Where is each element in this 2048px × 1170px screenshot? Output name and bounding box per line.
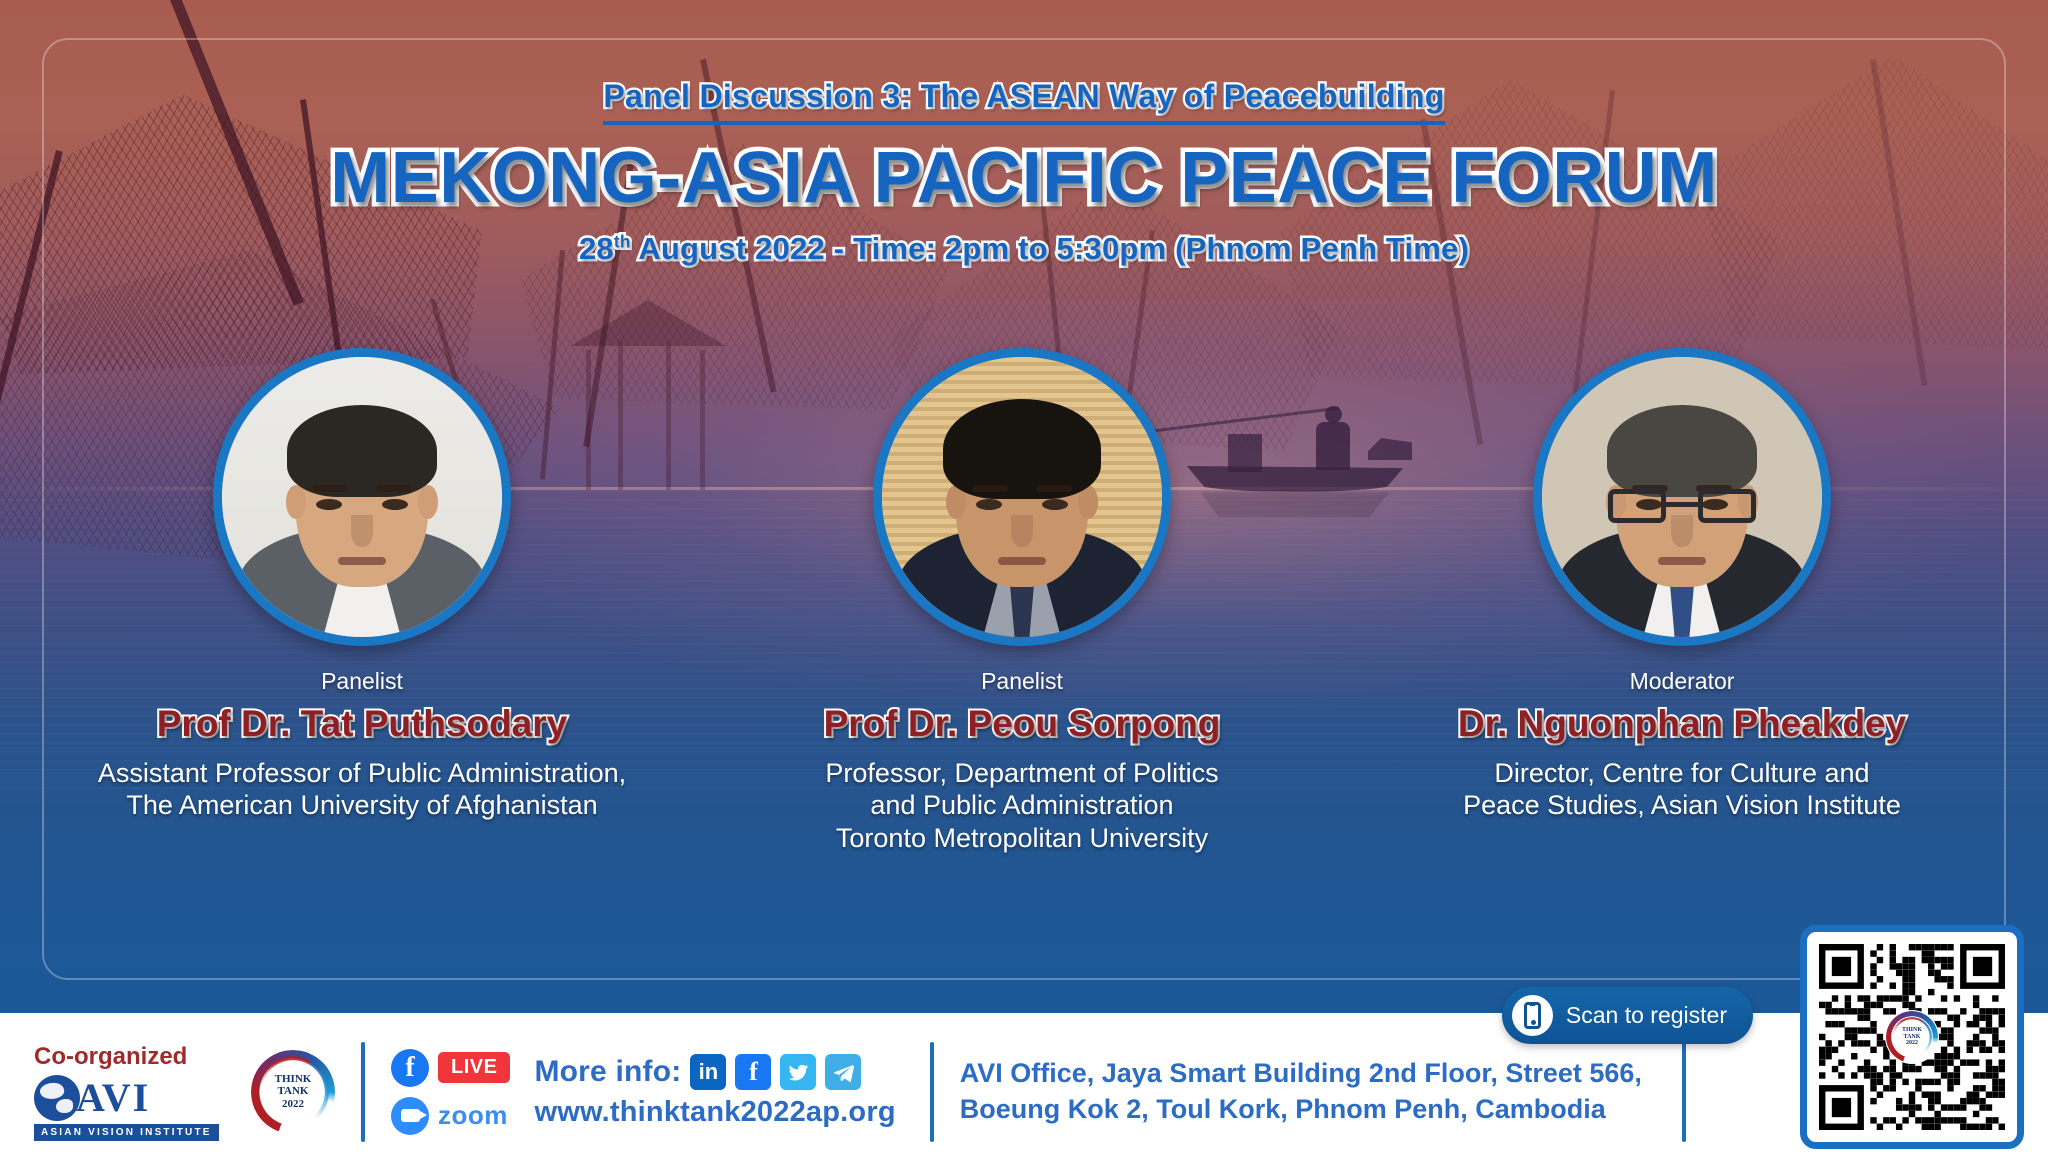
more-info-label: More info:	[534, 1055, 681, 1089]
avi-logo: AVI ASIAN VISION INSTITUTE	[34, 1075, 219, 1141]
facebook-icon[interactable]: f	[391, 1049, 429, 1087]
speaker-role: Panelist	[32, 668, 692, 695]
speaker-affiliation: Director, Centre for Culture andPeace St…	[1352, 757, 2012, 822]
think-tank-line2: TANK	[278, 1085, 309, 1097]
platform-column: f LIVE zoom	[391, 1049, 510, 1135]
address-line-2: Boeung Kok 2, Toul Kork, Phnom Penh, Cam…	[960, 1092, 1642, 1128]
globe-icon	[34, 1075, 80, 1121]
twitter-icon[interactable]	[780, 1054, 816, 1090]
avi-letters: AVI	[76, 1078, 150, 1118]
info-block: f LIVE zoom More info: in f	[391, 1049, 896, 1135]
co-organized-block: Co-organized AVI ASIAN VISION INSTITUTE	[0, 1043, 255, 1141]
qr-code[interactable]: THINK TANK 2022	[1800, 925, 2024, 1149]
more-info-column: More info: in f www.thinktank2022ap.org	[534, 1054, 895, 1129]
telegram-icon[interactable]	[825, 1054, 861, 1090]
linkedin-icon[interactable]: in	[690, 1054, 726, 1090]
speaker-affiliation: Professor, Department of Politicsand Pub…	[692, 757, 1352, 854]
qr-logo-line2: TANK	[1904, 1034, 1921, 1041]
panel-subtitle: Panel Discussion 3: The ASEAN Way of Pea…	[603, 78, 1444, 125]
speaker-role: Moderator	[1352, 668, 2012, 695]
avatar	[1533, 348, 1831, 646]
speaker-affiliation: Assistant Professor of Public Administra…	[32, 757, 692, 822]
speaker-card: Panelist Prof Dr. Tat Puthsodary Assista…	[32, 348, 692, 822]
website-url[interactable]: www.thinktank2022ap.org	[534, 1096, 895, 1129]
address-line-1: AVI Office, Jaya Smart Building 2nd Floo…	[960, 1056, 1642, 1092]
mobile-phone-icon	[1512, 995, 1553, 1036]
co-organized-label: Co-organized	[34, 1043, 255, 1071]
event-date-rest: August 2022 - Time: 2pm to 5:30pm (Phnom…	[631, 231, 1469, 266]
scan-to-register-button[interactable]: Scan to register	[1502, 987, 1753, 1044]
speaker-card: Panelist Prof Dr. Peou Sorpong Professor…	[692, 348, 1352, 854]
think-tank-line1: THINK	[275, 1073, 312, 1085]
qr-logo-line1: THINK	[1902, 1027, 1922, 1034]
qr-logo-line3: 2022	[1906, 1040, 1918, 1047]
poster-header: Panel Discussion 3: The ASEAN Way of Pea…	[0, 78, 2048, 267]
divider	[361, 1042, 365, 1142]
event-datetime: 28th August 2022 - Time: 2pm to 5:30pm (…	[0, 231, 2048, 267]
think-tank-logo: THINK TANK 2022	[251, 1050, 335, 1134]
zoom-label: zoom	[438, 1100, 508, 1131]
speaker-name: Prof Dr. Peou Sorpong	[692, 703, 1352, 745]
avi-subtitle: ASIAN VISION INSTITUTE	[34, 1124, 219, 1141]
speaker-name: Prof Dr. Tat Puthsodary	[32, 703, 692, 745]
page-title: MEKONG-ASIA PACIFIC PEACE FORUM	[0, 141, 2048, 217]
scan-to-register-label: Scan to register	[1566, 1002, 1727, 1029]
avatar	[213, 348, 511, 646]
event-date-ordinal: th	[614, 231, 631, 251]
think-tank-line3: 2022	[282, 1098, 304, 1110]
event-poster: Panel Discussion 3: The ASEAN Way of Pea…	[0, 0, 2048, 1170]
event-date-day: 28	[579, 231, 614, 266]
divider	[930, 1042, 934, 1142]
speaker-card: Moderator Dr. Nguonphan Pheakdey Directo…	[1352, 348, 2012, 822]
qr-center-logo: THINK TANK 2022	[1885, 1010, 1939, 1064]
live-badge: LIVE	[438, 1052, 510, 1083]
speaker-role: Panelist	[692, 668, 1352, 695]
zoom-icon[interactable]	[391, 1097, 429, 1135]
speaker-name: Dr. Nguonphan Pheakdey	[1352, 703, 2012, 745]
avatar	[873, 348, 1171, 646]
address-block: AVI Office, Jaya Smart Building 2nd Floo…	[960, 1056, 1642, 1127]
speakers-row: Panelist Prof Dr. Tat Puthsodary Assista…	[0, 348, 2048, 854]
divider	[1682, 1042, 1686, 1142]
facebook-icon[interactable]: f	[735, 1054, 771, 1090]
